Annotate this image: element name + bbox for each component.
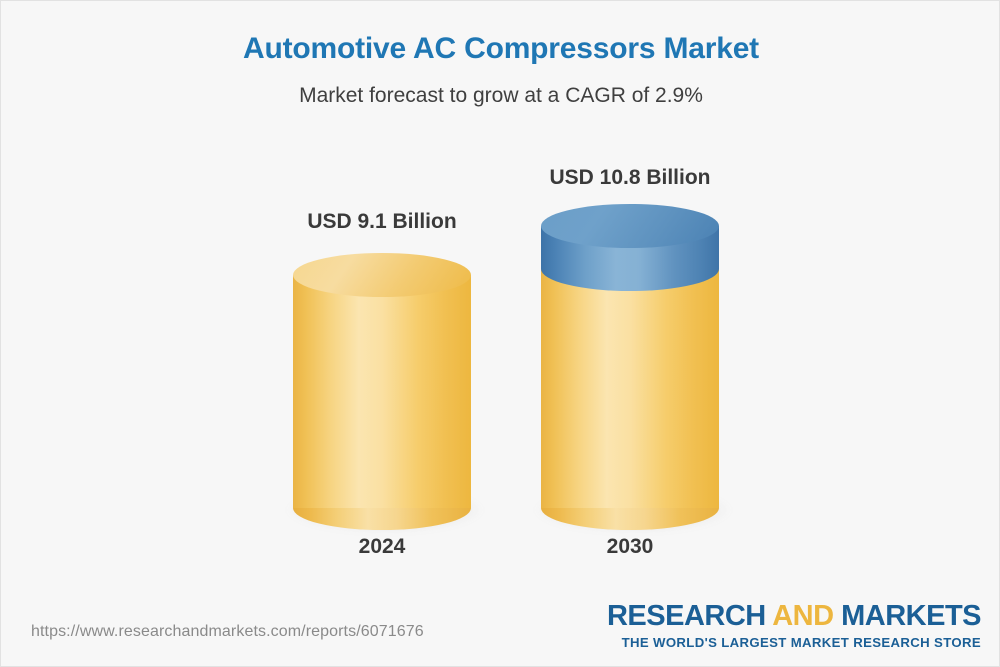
chart-plot-area: USD 9.1 Billion 2024 USD 10.8 Billion: [1, 1, 1000, 667]
logo-tagline: THE WORLD'S LARGEST MARKET RESEARCH STOR…: [607, 636, 981, 649]
research-and-markets-logo[interactable]: RESEARCH AND MARKETS THE WORLD'S LARGEST…: [607, 602, 981, 649]
logo-word-research: RESEARCH: [607, 600, 766, 632]
bar-value-label-2030: USD 10.8 Billion: [480, 166, 780, 190]
source-url-link[interactable]: https://www.researchandmarkets.com/repor…: [31, 623, 424, 641]
bar-top-cap-2024: [293, 253, 471, 297]
bar-cylinder-2024: [293, 253, 471, 529]
bar-segment-divider-2030: [541, 247, 719, 291]
bar-side-gold-2024: [293, 275, 471, 508]
bar-cylinder-2030: [541, 204, 719, 529]
bar-category-label-2030: 2030: [480, 535, 780, 559]
logo-word-and: AND: [772, 600, 833, 632]
bar-value-label-2024: USD 9.1 Billion: [232, 210, 532, 234]
infographic-canvas: Automotive AC Compressors Market Market …: [0, 0, 1000, 667]
bar-top-cap-2030: [541, 204, 719, 248]
logo-wordmark: RESEARCH AND MARKETS: [607, 602, 981, 631]
logo-word-markets: MARKETS: [841, 600, 981, 632]
bar-side-gold-2030: [541, 269, 719, 508]
